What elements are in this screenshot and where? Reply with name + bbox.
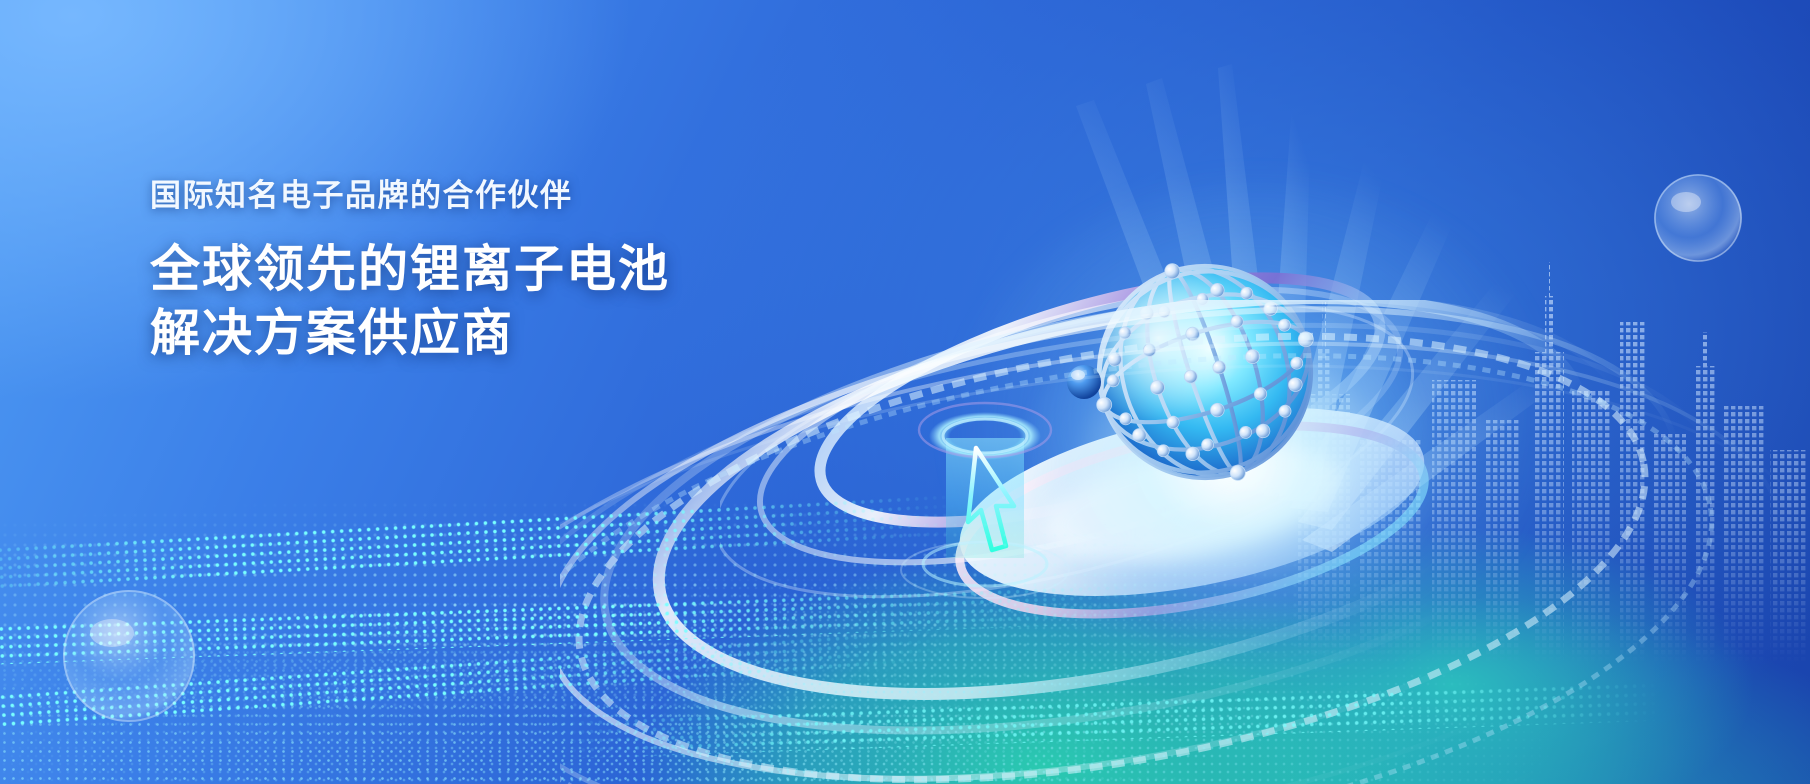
teal-gradient-zone bbox=[600, 440, 1810, 784]
hero-headline: 全球领先的锂离子电池 解决方案供应商 bbox=[150, 237, 670, 365]
hero-headline-line-1: 全球领先的锂离子电池 bbox=[150, 241, 670, 297]
wave-crest bbox=[0, 492, 961, 594]
hero-banner: 国际知名电子品牌的合作伙伴 全球领先的锂离子电池 解决方案供应商 bbox=[0, 0, 1810, 784]
city-skyline-silhouette bbox=[1290, 244, 1810, 664]
hero-copy-block: 国际知名电子品牌的合作伙伴 全球领先的锂离子电池 解决方案供应商 bbox=[150, 170, 670, 365]
halftone-dot-wave-3 bbox=[0, 0, 1810, 784]
cursor-arrow-beam-icon bbox=[880, 400, 1100, 620]
teal-gradient-zone-2 bbox=[1180, 520, 1810, 784]
bubble-sphere-top-right-icon bbox=[1650, 170, 1746, 266]
globe-halo-glow bbox=[950, 180, 1570, 700]
bubble-sphere-bottom-left-icon bbox=[58, 585, 200, 727]
wave-crest bbox=[0, 626, 960, 732]
halftone-dot-wave bbox=[0, 0, 1810, 784]
orbit-ring-icon bbox=[720, 200, 1440, 620]
wireframe-globe-icon bbox=[1055, 222, 1355, 522]
hero-headline-line-2: 解决方案供应商 bbox=[150, 301, 670, 365]
glowing-disc-platform bbox=[920, 390, 1480, 630]
wave-crest bbox=[0, 582, 1150, 665]
light-ray-fan bbox=[880, 60, 1640, 660]
hero-kicker: 国际知名电子品牌的合作伙伴 bbox=[150, 170, 670, 215]
wave-crest bbox=[560, 681, 1661, 759]
halftone-dot-wave-2 bbox=[0, 0, 1810, 784]
globe-core-glow bbox=[1020, 300, 1440, 630]
concentric-sweep-arcs bbox=[560, 300, 1810, 784]
orbit-node-bead-icon bbox=[1060, 358, 1108, 406]
